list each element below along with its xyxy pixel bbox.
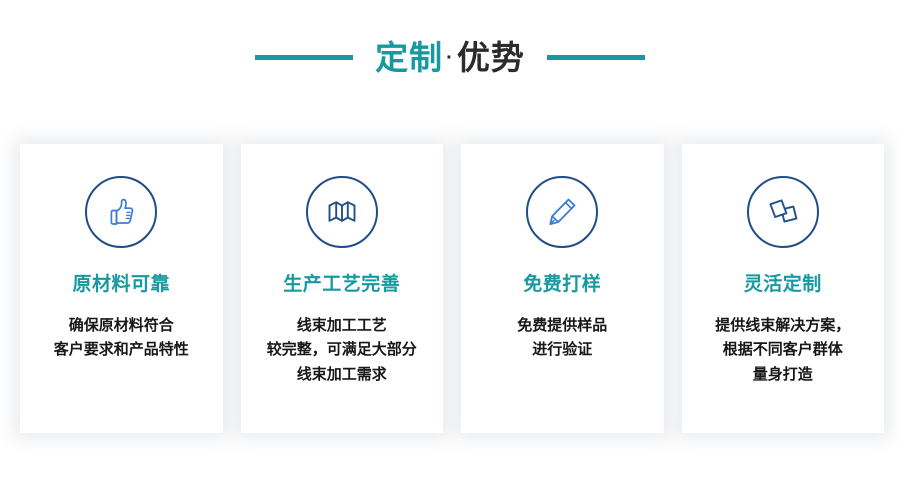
thumbs-up-icon bbox=[85, 176, 157, 248]
feature-card-description: 确保原材料符合 客户要求和产品特性 bbox=[42, 314, 201, 363]
folded-map-icon bbox=[306, 176, 378, 248]
feature-card-title: 灵活定制 bbox=[744, 275, 822, 294]
heading-rule-left-icon bbox=[255, 55, 353, 60]
feature-card-description: 提供线束解决方案， 根据不同客户群体 量身打造 bbox=[703, 314, 862, 387]
section-heading: 定制·优势 bbox=[0, 26, 900, 88]
page-title-secondary: 优势 bbox=[457, 39, 525, 76]
feature-card-list: 原材料可靠 确保原材料符合 客户要求和产品特性 生产工艺完善 线束加工工艺 较完… bbox=[20, 144, 884, 433]
pencil-icon bbox=[526, 176, 598, 248]
page-title-separator: · bbox=[443, 47, 457, 69]
feature-card[interactable]: 灵活定制 提供线束解决方案， 根据不同客户群体 量身打造 bbox=[682, 144, 885, 433]
feature-card-title: 原材料可靠 bbox=[72, 275, 170, 294]
feature-card[interactable]: 生产工艺完善 线束加工工艺 较完整，可满足大部分 线束加工需求 bbox=[241, 144, 444, 433]
feature-card-description: 免费提供样品 进行验证 bbox=[505, 314, 619, 363]
feature-card-description: 线束加工工艺 较完整，可满足大部分 线束加工需求 bbox=[255, 314, 429, 387]
feature-card-title: 免费打样 bbox=[523, 275, 601, 294]
feature-card[interactable]: 免费打样 免费提供样品 进行验证 bbox=[461, 144, 664, 433]
feature-card-title: 生产工艺完善 bbox=[283, 275, 400, 294]
feature-card[interactable]: 原材料可靠 确保原材料符合 客户要求和产品特性 bbox=[20, 144, 223, 433]
page-title: 定制·优势 bbox=[375, 41, 525, 74]
stacked-cards-icon bbox=[747, 176, 819, 248]
page-stage: 定制·优势 原材料可靠 确保原材料符合 客户要求和产品特性 bbox=[0, 0, 900, 499]
heading-rule-right-icon bbox=[547, 55, 645, 60]
page-title-primary: 定制 bbox=[375, 39, 443, 76]
